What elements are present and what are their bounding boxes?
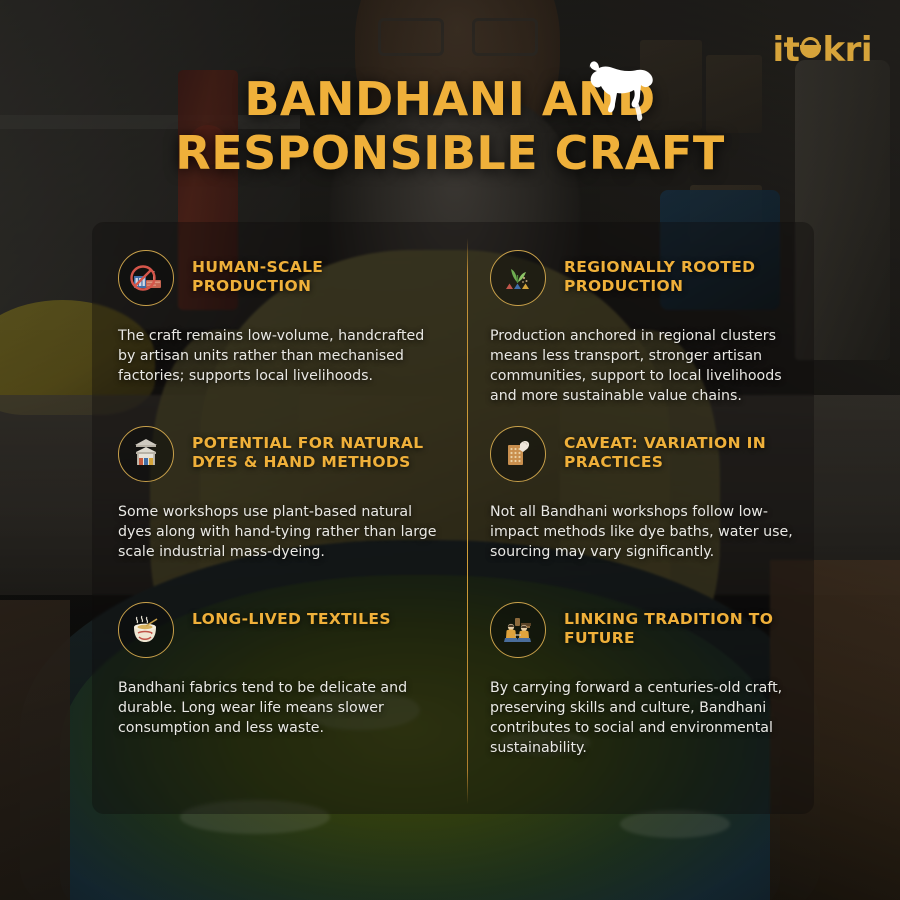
dye-workshop-building-icon — [118, 426, 174, 482]
itokri-logo[interactable]: it kri — [773, 30, 872, 70]
card-body: Production anchored in regional clusters… — [490, 326, 794, 407]
content-panel: HUMAN-SCALE PRODUCTION The craft remains… — [92, 222, 814, 814]
card-title: LINKING TRADITION TO FUTURE — [564, 602, 794, 649]
card-header: CAVEAT: VARIATION IN PRACTICES — [490, 426, 794, 482]
page-title: BANDHANI AND RESPONSIBLE CRAFT — [0, 72, 900, 181]
cards-grid: HUMAN-SCALE PRODUCTION The craft remains… — [92, 222, 814, 814]
two-artisans-weaving-icon — [490, 602, 546, 658]
card-header: LONG-LIVED TEXTILES — [118, 602, 442, 658]
card-title: HUMAN-SCALE PRODUCTION — [192, 250, 442, 297]
card-body: The craft remains low-volume, handcrafte… — [118, 326, 442, 386]
card-human-scale-production: HUMAN-SCALE PRODUCTION The craft remains… — [92, 222, 468, 398]
title-line-1: BANDHANI AND — [175, 72, 724, 126]
card-linking-tradition-future: LINKING TRADITION TO FUTURE By carrying … — [468, 574, 814, 774]
logo-text-it: it — [773, 30, 800, 70]
card-potential-natural-dyes: POTENTIAL FOR NATURAL DYES & HAND METHOD… — [92, 398, 468, 574]
card-title: REGIONALLY ROOTED PRODUCTION — [564, 250, 794, 297]
basket-icon — [800, 35, 821, 61]
card-header: POTENTIAL FOR NATURAL DYES & HAND METHOD… — [118, 426, 442, 482]
steaming-dye-pot-icon — [118, 602, 174, 658]
card-long-lived-textiles: LONG-LIVED TEXTILES Bandhani fabrics ten… — [92, 574, 468, 774]
sprout-dye-powders-icon — [490, 250, 546, 306]
no-factory-icon — [118, 250, 174, 306]
card-header: REGIONALLY ROOTED PRODUCTION — [490, 250, 794, 306]
card-header: HUMAN-SCALE PRODUCTION — [118, 250, 442, 306]
card-title: CAVEAT: VARIATION IN PRACTICES — [564, 426, 794, 473]
title-line-2: RESPONSIBLE CRAFT — [175, 126, 724, 180]
hand-holding-patterned-fabric-icon — [490, 426, 546, 482]
card-title: POTENTIAL FOR NATURAL DYES & HAND METHOD… — [192, 426, 442, 473]
cow-silhouette-icon — [578, 58, 664, 130]
card-caveat-variation: CAVEAT: VARIATION IN PRACTICES Not all B… — [468, 398, 814, 574]
card-body: Not all Bandhani workshops follow low-im… — [490, 502, 794, 562]
card-body: By carrying forward a centuries-old craf… — [490, 678, 794, 759]
logo-text-kri: kri — [822, 30, 872, 70]
card-body: Bandhani fabrics tend to be delicate and… — [118, 678, 442, 738]
card-header: LINKING TRADITION TO FUTURE — [490, 602, 794, 658]
card-regionally-rooted-production: REGIONALLY ROOTED PRODUCTION Production … — [468, 222, 814, 398]
card-title: LONG-LIVED TEXTILES — [192, 602, 391, 629]
card-body: Some workshops use plant-based natural d… — [118, 502, 442, 562]
